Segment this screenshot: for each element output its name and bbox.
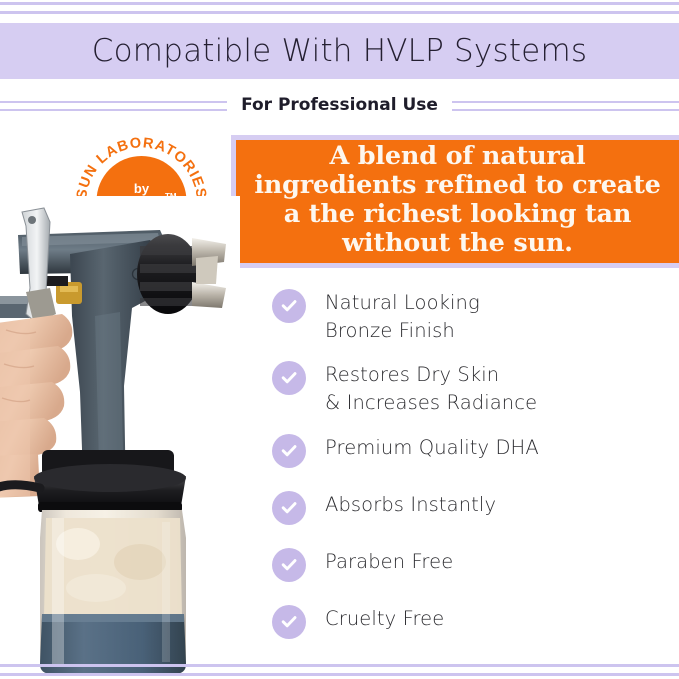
list-item-label: Premium Quality DHA	[325, 433, 539, 462]
spray-gun-illustration	[0, 196, 240, 679]
svg-text:by: by	[134, 181, 150, 196]
product-infographic: Compatible With HVLP Systems For Profess…	[0, 0, 679, 679]
check-circle-icon	[272, 548, 306, 582]
subtitle-row: For Professional Use	[0, 92, 679, 118]
check-circle-icon	[272, 289, 306, 323]
claim-text: A blend of natural ingredients refined t…	[248, 142, 667, 258]
list-item: Natural Looking Bronze Finish	[272, 288, 672, 344]
product-photo	[0, 196, 240, 679]
divider-rule-bottom-1	[0, 664, 679, 667]
claim-banner: A blend of natural ingredients refined t…	[236, 140, 679, 263]
list-item: Premium Quality DHA	[272, 433, 672, 468]
list-item: Absorbs Instantly	[272, 490, 672, 525]
divider-rule-top-1	[0, 2, 679, 5]
check-circle-icon	[272, 491, 306, 525]
check-circle-icon	[272, 361, 306, 395]
subtitle-rule-right	[452, 99, 679, 112]
list-item: Restores Dry Skin & Increases Radiance	[272, 360, 672, 416]
divider-rule-top-2	[0, 11, 679, 14]
check-circle-icon	[272, 434, 306, 468]
page-subtitle: For Professional Use	[227, 95, 452, 115]
list-item-label: Absorbs Instantly	[325, 490, 496, 519]
list-item: Paraben Free	[272, 547, 672, 582]
page-title: Compatible With HVLP Systems	[92, 33, 587, 69]
list-item-label: Natural Looking Bronze Finish	[325, 288, 480, 344]
divider-rule-bottom-2	[0, 673, 679, 676]
list-item-label: Cruelty Free	[325, 604, 444, 633]
check-circle-icon	[272, 605, 306, 639]
list-item-label: Restores Dry Skin & Increases Radiance	[325, 360, 537, 416]
header-band: Compatible With HVLP Systems	[0, 23, 679, 79]
list-item-label: Paraben Free	[325, 547, 453, 576]
claim-banner-frame: A blend of natural ingredients refined t…	[231, 135, 679, 268]
list-item: Cruelty Free	[272, 604, 672, 639]
feature-list: Natural Looking Bronze Finish Restores D…	[272, 288, 672, 661]
subtitle-rule-left	[0, 99, 227, 112]
